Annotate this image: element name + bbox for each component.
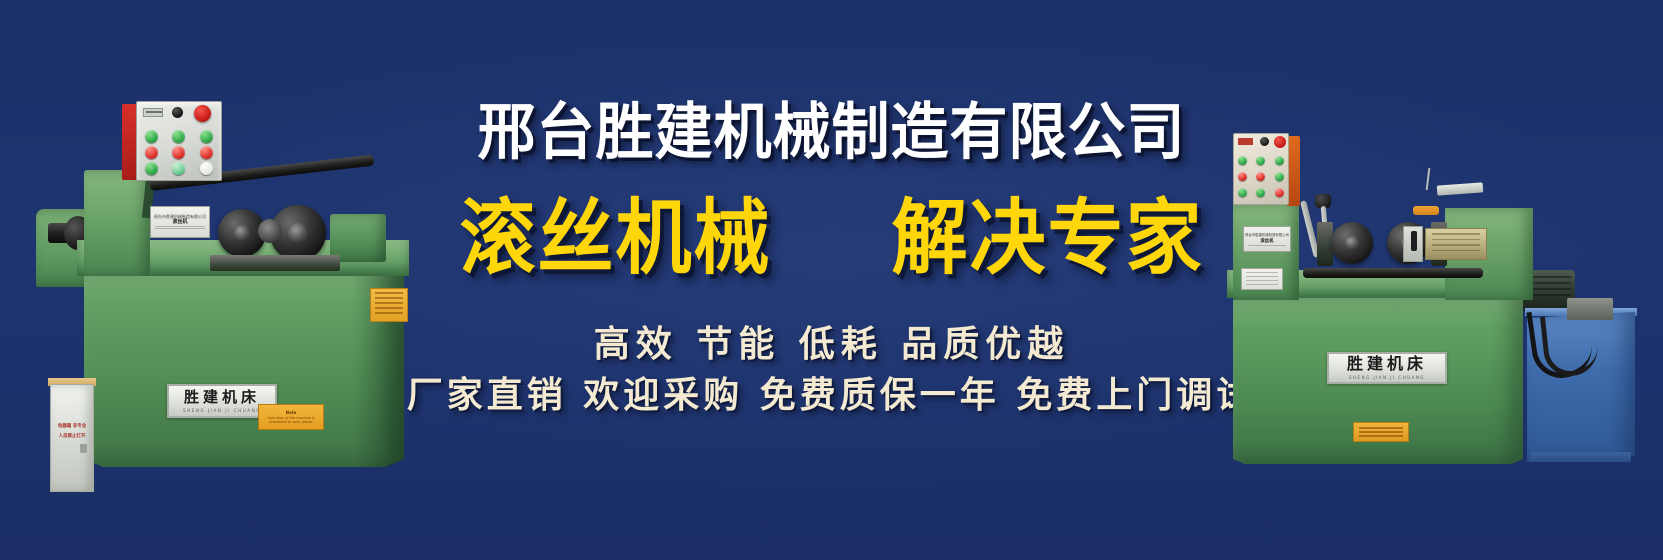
roller-hub-1 <box>1345 236 1359 250</box>
spec-plate-header: 邢台市胜建机械制造有限公司 <box>1245 232 1289 237</box>
sensor-probe <box>1426 168 1431 190</box>
machine-photo-right: 邢台市胜建机械制造有限公司 滚丝机 胜建机床 SHENG JIAN JI CHU… <box>1175 122 1663 462</box>
nameplate-pinyin: SHENG JIAN JI CHUANG <box>1349 375 1425 380</box>
spec-plate-rule <box>1248 245 1287 246</box>
brass-spec-plate <box>1425 228 1487 260</box>
warning-label <box>1353 422 1409 442</box>
push-button[interactable] <box>1238 188 1247 197</box>
hydraulic-tank-base <box>1531 452 1631 462</box>
serial-plate <box>1241 268 1283 290</box>
lubrication-valve <box>1403 226 1423 262</box>
warning-label-secondary <box>370 288 408 322</box>
push-button-grid[interactable] <box>1235 153 1287 199</box>
headline-part-2: 解决专家 <box>892 197 1204 279</box>
display-meter <box>1238 138 1253 145</box>
cable-clip <box>1413 206 1439 215</box>
spec-plate-model: 滚丝机 <box>1260 238 1273 244</box>
spec-plate: 邢台市胜建机械制造有限公司 滚丝机 <box>1243 226 1291 252</box>
push-button[interactable] <box>145 162 158 175</box>
cabinet-label: 电器箱 非专业人员禁止打开 <box>56 422 88 443</box>
promo-banner: 邢台市胜建机械制造有限公司 滚丝机 胜建机床 SHENG JIAN JI CHU… <box>0 0 1663 560</box>
guide-bar <box>1303 268 1483 278</box>
warning-text: Operation of the machine is prohibited t… <box>261 416 321 425</box>
push-button[interactable] <box>1256 172 1265 181</box>
cabinet-latch-icon[interactable] <box>80 444 87 453</box>
headline-part-1: 滚丝机械 <box>460 197 772 279</box>
emergency-stop-button[interactable] <box>1274 136 1286 148</box>
push-button[interactable] <box>172 162 185 175</box>
push-button[interactable] <box>1256 156 1265 165</box>
push-button[interactable] <box>1275 188 1284 197</box>
nameplate-chinese: 胜建机床 <box>1347 356 1427 372</box>
selector-knob-icon[interactable] <box>1260 137 1269 146</box>
push-button[interactable] <box>1238 172 1247 181</box>
push-button[interactable] <box>1275 156 1284 165</box>
brand-nameplate: 胜建机床 SHENG JIAN JI CHUANG <box>1327 352 1447 384</box>
work-fixture <box>1437 182 1484 195</box>
push-button[interactable] <box>1275 172 1284 181</box>
push-button[interactable] <box>1256 188 1265 197</box>
push-button[interactable] <box>200 162 213 175</box>
push-button[interactable] <box>1238 156 1247 165</box>
